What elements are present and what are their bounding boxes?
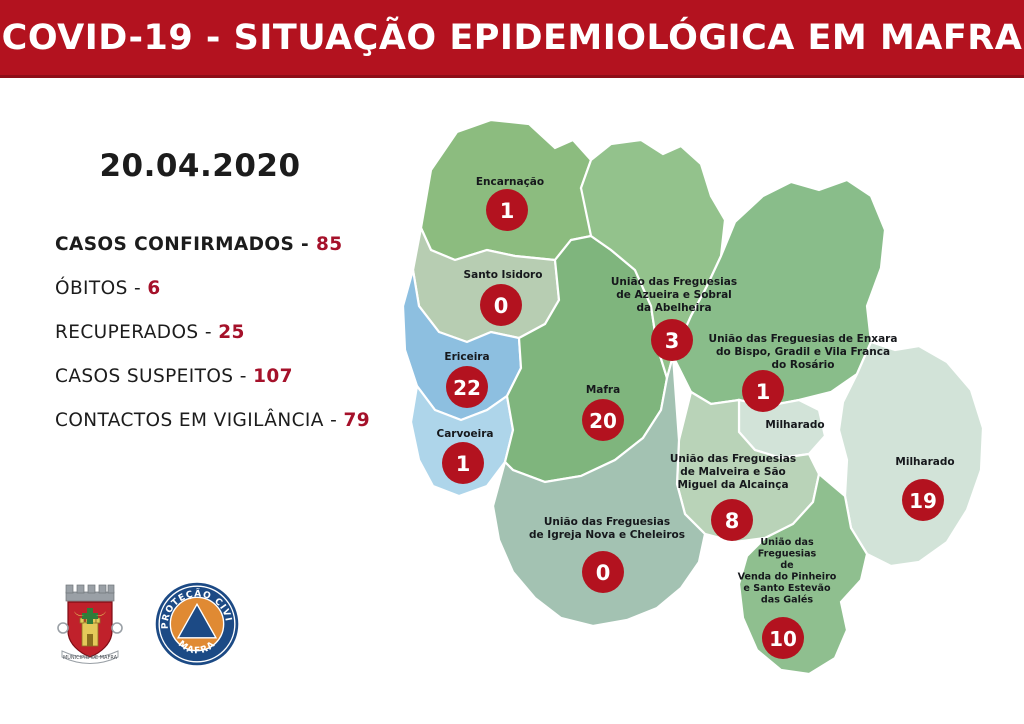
badge-value: 19	[909, 489, 937, 513]
region-label-santo-isidoro: Santo Isidoro	[464, 269, 543, 281]
stat-label: CONTACTOS EM VIGILÂNCIA	[55, 410, 324, 431]
badge-value: 10	[769, 627, 797, 651]
stat-row: ÓBITOS - 6	[55, 278, 400, 299]
coat-of-arms-icon: MUNICIPIO DE MAFRA	[52, 578, 128, 670]
stat-label: CASOS CONFIRMADOS	[55, 234, 294, 255]
case-badge-venda-pinheiro[interactable]: 10	[762, 617, 804, 659]
region-label-milharado: Milharado	[895, 456, 954, 468]
coa-caption: MUNICIPIO DE MAFRA	[63, 655, 118, 661]
case-badge-malveira[interactable]: 8	[711, 499, 753, 541]
case-badge-mafra[interactable]: 20	[582, 399, 624, 441]
stat-row: CONTACTOS EM VIGILÂNCIA - 79	[55, 410, 400, 431]
stat-separator: -	[324, 410, 344, 431]
map-svg: EncarnaçãoSanto IsidoroEriceiraCarvoeira…	[395, 110, 1024, 690]
stat-label: CASOS SUSPEITOS	[55, 366, 233, 387]
stat-row: CASOS SUSPEITOS - 107	[55, 366, 400, 387]
case-badge-encarnacao[interactable]: 1	[486, 189, 528, 231]
case-badge-ericeira[interactable]: 22	[446, 366, 488, 408]
report-date: 20.04.2020	[0, 148, 400, 184]
stat-value: 107	[253, 366, 293, 387]
civil-protection-icon: PROTEÇÃO CIVIL MAFRA	[154, 581, 240, 667]
case-badge-milharado[interactable]: 19	[902, 479, 944, 521]
case-badge-carvoeira[interactable]: 1	[442, 442, 484, 484]
region-milharado[interactable]	[839, 342, 983, 566]
logo-group: MUNICIPIO DE MAFRA PROTEÇÃO CIVIL MAFRA	[52, 578, 240, 670]
page-header: COVID-19 - SITUAÇÃO EPIDEMIOLÓGICA EM MA…	[0, 0, 1024, 78]
case-badge-enxara-gradil[interactable]: 1	[742, 370, 784, 412]
stat-separator: -	[128, 278, 148, 299]
case-badge-santo-isidoro[interactable]: 0	[480, 284, 522, 326]
protecao-civil-mafra-logo: PROTEÇÃO CIVIL MAFRA	[154, 581, 240, 667]
stat-value: 6	[147, 278, 160, 299]
region-label-encarnacao: Encarnação	[476, 176, 544, 188]
badge-value: 0	[596, 561, 611, 585]
badge-value: 8	[725, 509, 740, 533]
case-badge-azueira-sobral[interactable]: 3	[651, 319, 693, 361]
badge-value: 3	[665, 329, 680, 353]
region-label-carvoeira: Carvoeira	[436, 428, 493, 440]
region-label-mafra: Mafra	[586, 384, 620, 396]
region-label-ericeira: Ericeira	[444, 351, 489, 363]
badge-value: 1	[456, 452, 471, 476]
mafra-parish-map: EncarnaçãoSanto IsidoroEriceiraCarvoeira…	[395, 110, 1024, 690]
region-label-malveira: União das Freguesiasde Malveira e SãoMig…	[670, 453, 796, 491]
badge-value: 20	[589, 409, 617, 433]
stat-label: RECUPERADOS	[55, 322, 199, 343]
badge-value: 1	[500, 199, 515, 223]
stat-value: 79	[343, 410, 370, 431]
stat-separator: -	[233, 366, 253, 387]
badge-value: 22	[453, 376, 481, 400]
stat-value: 85	[316, 234, 343, 255]
statistics-panel: 20.04.2020 CASOS CONFIRMADOS - 85ÓBITOS …	[0, 100, 400, 440]
stat-value: 25	[218, 322, 245, 343]
badge-value: 0	[494, 294, 509, 318]
case-badge-igreja-nova[interactable]: 0	[582, 551, 624, 593]
stat-label: ÓBITOS	[55, 278, 128, 299]
stat-row: RECUPERADOS - 25	[55, 322, 400, 343]
stat-separator: -	[199, 322, 219, 343]
region-label-igreja-nova: União das Freguesiasde Igreja Nova e Che…	[529, 516, 685, 541]
region-label-milharado-exclave: Milharado	[765, 419, 824, 431]
page-title: COVID-19 - SITUAÇÃO EPIDEMIOLÓGICA EM MA…	[2, 18, 1023, 58]
badge-value: 1	[756, 380, 771, 404]
statistics-list: CASOS CONFIRMADOS - 85ÓBITOS - 6RECUPERA…	[0, 234, 400, 431]
stat-separator: -	[294, 234, 316, 255]
stat-row: CASOS CONFIRMADOS - 85	[55, 234, 400, 255]
brasao-municipio-mafra-logo: MUNICIPIO DE MAFRA	[52, 578, 128, 670]
